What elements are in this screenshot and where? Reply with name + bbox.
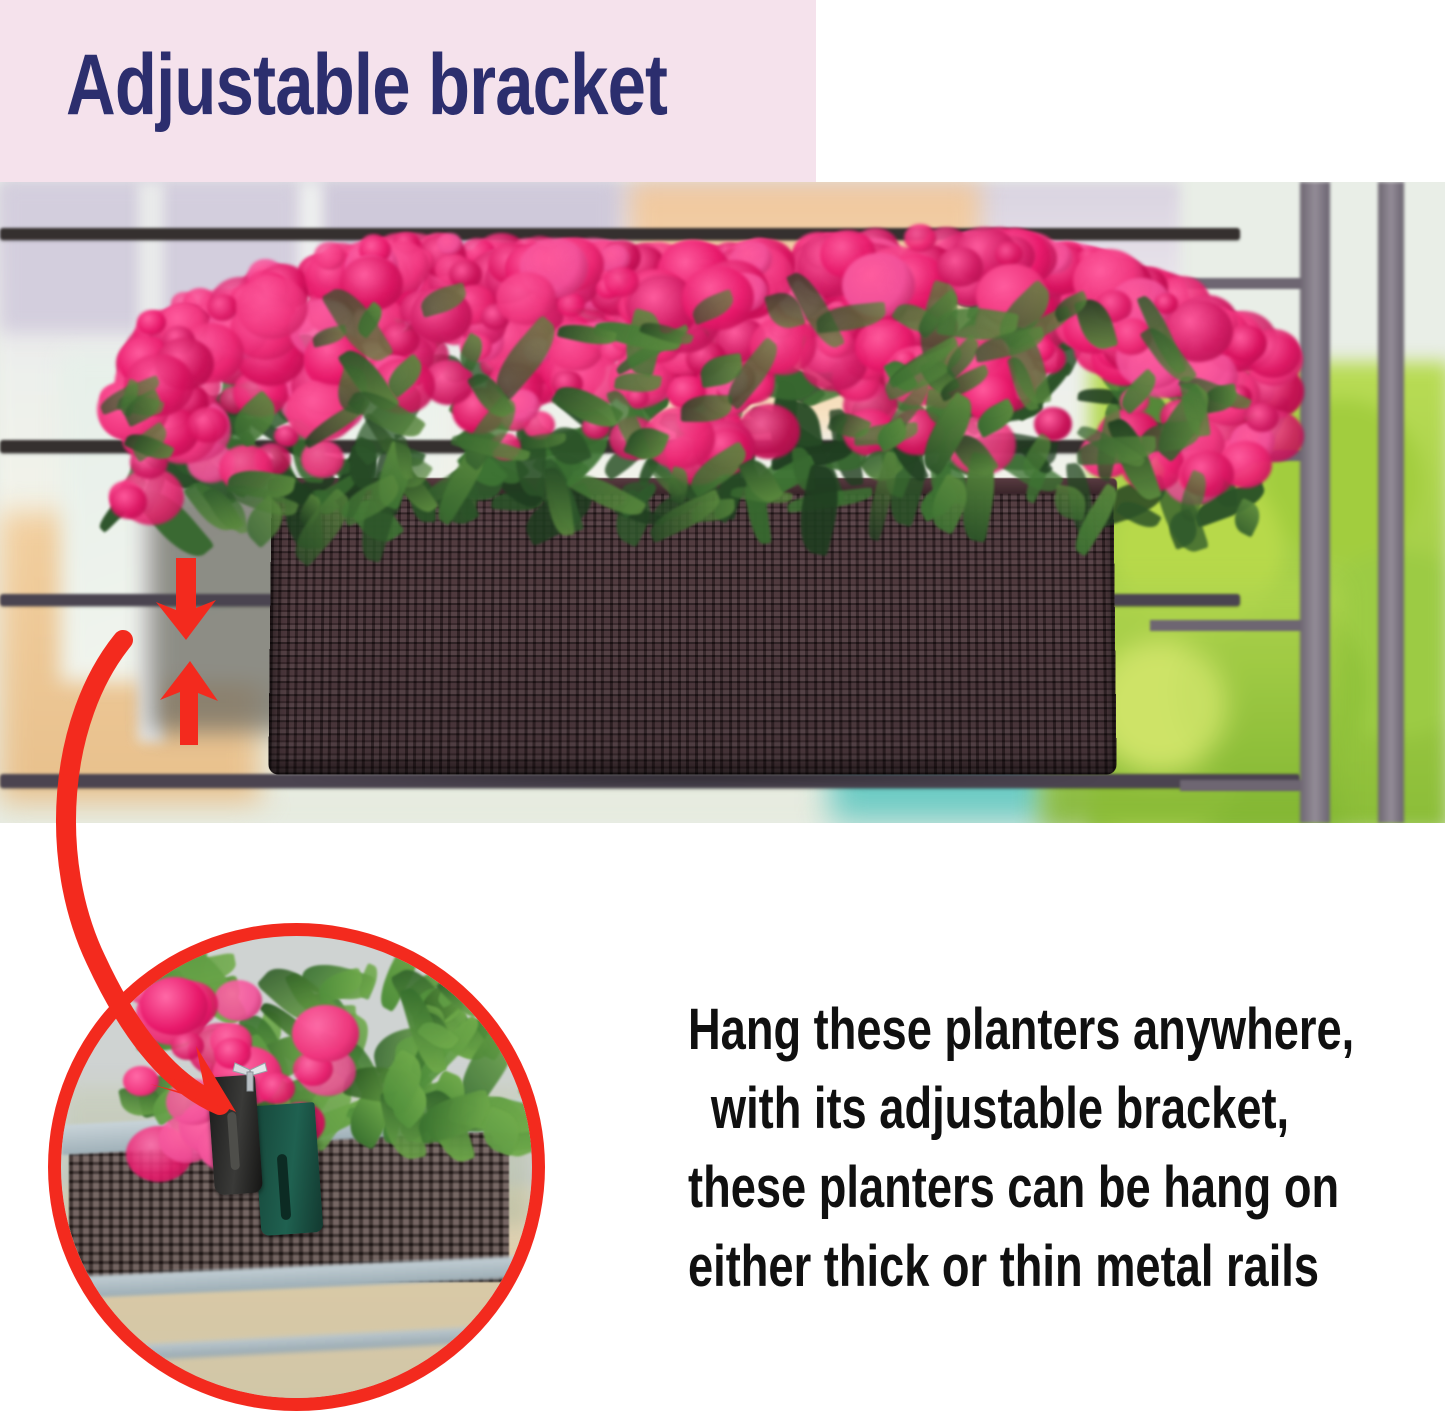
caption-line-2: with its adjustable bracket,: [688, 1069, 1312, 1148]
flower-bloom: [937, 247, 983, 287]
caption-block: Hang these planters anywhere, with its a…: [600, 990, 1400, 1306]
flower-bloom: [110, 485, 148, 518]
flower-bloom: [437, 233, 461, 254]
flower-bloom: [1245, 403, 1278, 432]
caption-line-1: Hang these planters anywhere,: [688, 990, 1312, 1069]
page-title: Adjustable bracket: [66, 26, 642, 144]
flower-bloom: [236, 276, 308, 339]
flower-bloom: [604, 267, 639, 298]
flower-bloom: [207, 294, 238, 321]
flower-cluster: [90, 182, 1280, 512]
caption-line-4: either thick or thin metal rails: [688, 1227, 1312, 1306]
flower-bloom: [995, 242, 1023, 266]
railing-post-1: [1300, 182, 1330, 823]
rail-stub-3: [1150, 620, 1305, 631]
inset-bloom: [140, 977, 208, 1035]
wing-screw-icon: [229, 1062, 271, 1092]
inset-bloom: [123, 1066, 159, 1097]
header-band: Adjustable bracket: [0, 0, 816, 182]
bracket-detail-inset: [48, 923, 545, 1411]
main-product-photo: [0, 182, 1445, 823]
flower-bloom: [496, 272, 556, 325]
caption-line-3: these planters can be hang on: [688, 1148, 1312, 1227]
railing-post-2: [1378, 182, 1404, 823]
inset-photo: [61, 936, 532, 1398]
inset-bloom: [171, 1032, 204, 1060]
inset-foliage-cluster: [121, 936, 532, 1136]
inset-bloom: [292, 1005, 359, 1062]
rail-stub-4: [1180, 780, 1305, 791]
flower-bloom: [904, 224, 936, 252]
